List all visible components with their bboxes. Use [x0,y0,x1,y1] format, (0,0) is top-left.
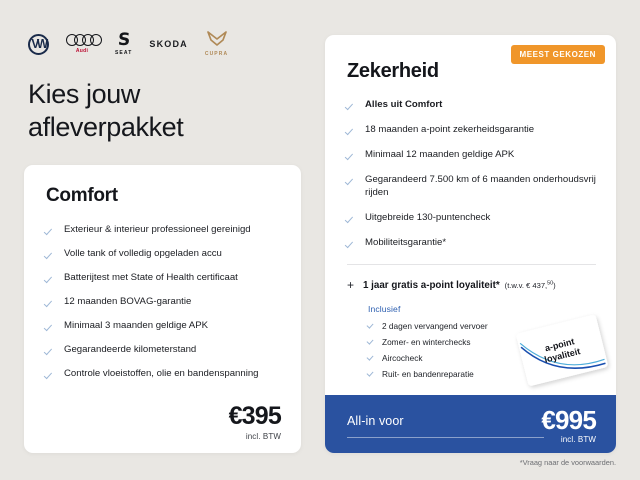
footer-label: All-in voor [347,414,404,428]
check-icon [347,151,356,160]
list-item-label: Exterieur & interieur professioneel gere… [64,224,251,237]
list-item: Minimaal 3 maanden geldige APK [46,320,279,333]
list-item: Minimaal 12 maanden geldige APK [347,149,596,162]
list-item-label: Mobiliteitsgarantie* [365,237,446,250]
check-icon [368,370,375,377]
loyalty-offer-row: + 1 jaar gratis a-point loyaliteit*(t.w.… [347,278,596,291]
list-item: Controle vloeistoffen, olie en bandenspa… [46,368,279,381]
page-title-line1: Kies jouw [28,79,140,109]
list-item: Mobiliteitsgarantie* [347,237,596,250]
list-item-label: Minimaal 3 maanden geldige APK [64,320,208,333]
check-icon [347,214,356,223]
cupra-logo-icon: CUPRA [205,31,228,57]
plus-icon: + [347,279,354,291]
check-icon [368,354,375,361]
list-item: Zomer- en winterchecks [368,337,596,347]
check-icon [46,298,55,307]
comfort-feature-list: Exterieur & interieur professioneel gere… [46,224,279,381]
list-item: Batterijtest met State of Health certifi… [46,272,279,285]
zekerheid-feature-list: Alles uit Comfort18 maanden a-point zeke… [347,99,596,250]
list-item-label: Controle vloeistoffen, olie en bandenspa… [64,368,259,381]
check-icon [46,274,55,283]
zekerheid-price: €995 [541,407,596,433]
check-icon [347,126,356,135]
list-item-label: 18 maanden a-point zekerheidsgarantie [365,124,534,137]
loyalty-offer-title: 1 jaar gratis a-point loyaliteit* [363,280,500,291]
list-item-label: Zomer- en winterchecks [382,337,471,347]
check-icon [46,250,55,259]
loyalty-value-prefix: (t.w.v. € 437, [505,281,548,290]
audi-logo-label: Audi [76,48,88,54]
comfort-price: €395 [229,404,281,429]
check-icon [368,322,375,329]
list-item-label: Volle tank of volledig opgeladen accu [64,248,222,261]
list-item-label: 2 dagen vervangend vervoer [382,321,488,331]
seat-logo-icon: S SEAT [115,32,132,56]
list-item-label: Ruit- en bandenreparatie [382,369,474,379]
loyalty-offer-value: (t.w.v. € 437,50) [505,281,556,290]
list-item: Gegarandeerd 7.500 km of 6 maanden onder… [347,174,596,200]
loyalty-value-suffix: ) [553,281,556,290]
list-item: Aircocheck [368,353,596,363]
brand-logo-strip: VW Audi S SEAT SKODA CUPRA [28,31,228,57]
audi-logo-icon: Audi [66,34,98,54]
list-item: Alles uit Comfort [347,99,596,112]
list-item: 18 maanden a-point zekerheidsgarantie [347,124,596,137]
cupra-mark-glyph [207,31,227,50]
allin-price-footer: All-in voor €995 incl. BTW [325,395,616,453]
zekerheid-package-card[interactable]: MEEST GEKOZEN Zekerheid Alles uit Comfor… [325,35,616,453]
cupra-logo-label: CUPRA [205,51,228,57]
check-icon [347,101,356,110]
list-item-label: Uitgebreide 130-puntencheck [365,212,490,225]
inclusief-block: Inclusief 2 dagen vervangend vervoerZome… [368,304,596,379]
list-item: Volle tank of volledig opgeladen accu [46,248,279,261]
list-item-label: 12 maanden BOVAG-garantie [64,296,191,309]
inclusief-list: 2 dagen vervangend vervoerZomer- en wint… [368,321,596,379]
comfort-card-title: Comfort [46,185,279,207]
comfort-price-note: incl. BTW [229,432,281,441]
skoda-logo-label: SKODA [149,39,188,49]
zekerheid-price-note: incl. BTW [561,435,596,444]
seat-logo-label: SEAT [115,50,132,56]
list-item: 12 maanden BOVAG-garantie [46,296,279,309]
footer-rule [347,437,544,438]
list-item: Uitgebreide 130-puntencheck [347,212,596,225]
check-icon [46,322,55,331]
check-icon [347,239,356,248]
page-title-line2: afleverpakket [28,112,183,142]
inclusief-title: Inclusief [368,304,596,314]
check-icon [46,226,55,235]
status-badge: MEEST GEKOZEN [511,45,606,64]
disclaimer-text: *Vraag naar de voorwaarden. [520,458,616,467]
list-item: Exterieur & interieur professioneel gere… [46,224,279,237]
list-item-label: Gegarandeerde kilometerstand [64,344,196,357]
list-item-label: Gegarandeerd 7.500 km of 6 maanden onder… [365,174,596,200]
list-item: Ruit- en bandenreparatie [368,369,596,379]
check-icon [46,346,55,355]
section-divider [347,264,596,265]
seat-mark-text: S [117,32,130,49]
comfort-package-card[interactable]: Comfort Exterieur & interieur profession… [24,165,301,453]
check-icon [368,338,375,345]
check-icon [347,176,356,185]
skoda-logo-icon: SKODA [149,39,188,49]
comfort-price-block: €395 incl. BTW [229,404,281,441]
page-title: Kies jouw afleverpakket [28,78,318,145]
list-item-label: Batterijtest met State of Health certifi… [64,272,238,285]
vw-mark-text: VW [31,38,45,51]
list-item: 2 dagen vervangend vervoer [368,321,596,331]
list-item-label: Alles uit Comfort [365,99,442,112]
list-item: Gegarandeerde kilometerstand [46,344,279,357]
list-item-label: Minimaal 12 maanden geldige APK [365,149,514,162]
check-icon [46,370,55,379]
volkswagen-logo-icon: VW [28,34,49,55]
audi-rings-icon [66,34,98,46]
list-item-label: Aircocheck [382,353,423,363]
